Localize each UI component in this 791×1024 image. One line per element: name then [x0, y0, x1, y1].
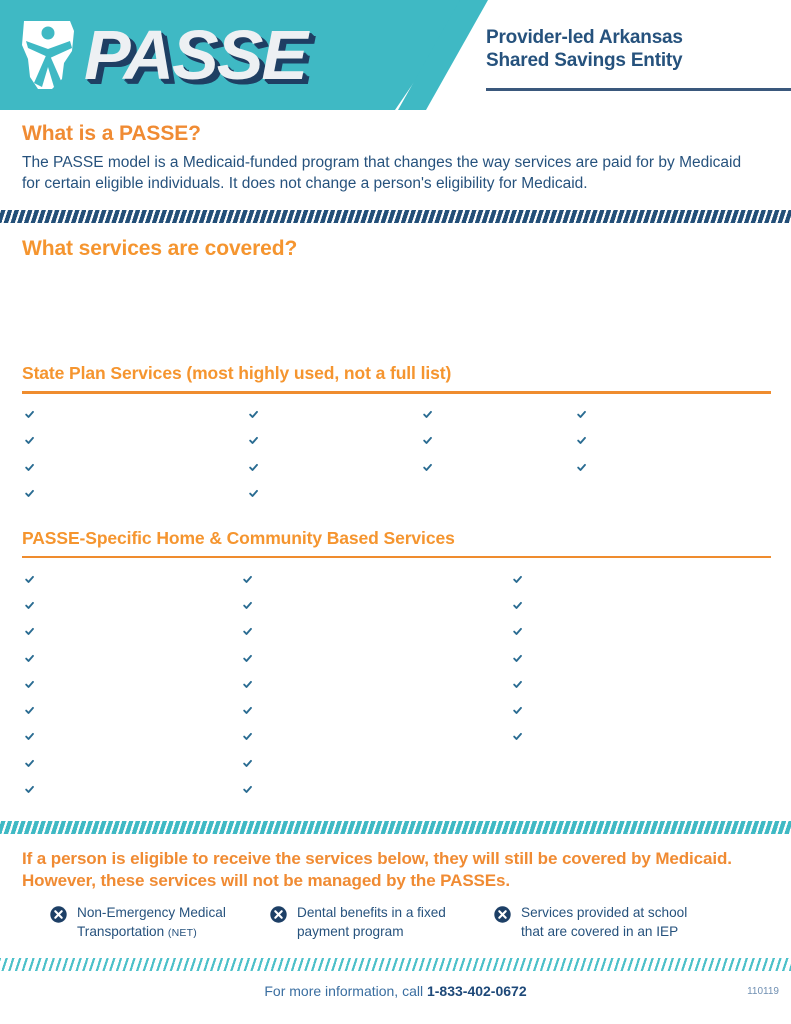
- service-item-label: Supported Employment: [46, 598, 188, 613]
- check-circle-icon: [510, 624, 525, 639]
- service-item: Personal Care: [22, 402, 213, 428]
- service-column-1: RespiteSupported EmploymentSupportive Li…: [22, 566, 211, 803]
- service-item: Peer Support: [22, 697, 211, 723]
- service-item: Speech Therapy: [246, 402, 397, 428]
- service-item-label: Behavior Assistance: [46, 677, 168, 692]
- service-item: Supported Employment: [22, 592, 211, 618]
- services-section: What services are covered? The PASSE mus…: [0, 223, 791, 821]
- services-heading: What services are covered?: [22, 237, 769, 261]
- check-circle-icon: [240, 651, 255, 666]
- excluded-service-label: Dental benefits in a fixedpayment progra…: [297, 904, 446, 942]
- hcbs-service-list: RespiteSupported EmploymentSupportive Li…: [22, 566, 769, 811]
- excluded-service-item: Dental benefits in a fixedpayment progra…: [270, 904, 446, 942]
- tagline-line-1: Provider-led Arkansas: [486, 26, 786, 49]
- x-circle-icon: [494, 906, 511, 923]
- passe-logo: PASSE: [18, 14, 306, 96]
- service-item-label: Family Planning: [444, 460, 541, 475]
- service-item: Adaptive Equipment: [510, 566, 758, 592]
- service-item: Pharmacy: [246, 454, 397, 480]
- service-item: Outpatient Behavioral: [574, 428, 729, 454]
- service-column-3: Adaptive EquipmentEnvironmental Modifica…: [510, 566, 758, 750]
- service-item-label: Durable Medical Equipment: [46, 460, 213, 475]
- service-item: Supplemental Support: [240, 592, 474, 618]
- service-item-label: Adaptive Equipment: [534, 572, 656, 587]
- header-divider: [486, 88, 791, 91]
- x-circle-icon: [50, 906, 67, 923]
- check-circle-icon: [420, 460, 435, 475]
- check-circle-icon: [246, 407, 261, 422]
- check-circle-icon: [22, 572, 37, 587]
- service-item-label: Peer Support: [46, 703, 126, 718]
- service-item-label: Environmental Modifications: [534, 598, 704, 613]
- service-item-label: Recovery Support Partners: [264, 782, 428, 797]
- passe-wordmark: PASSE: [84, 17, 306, 93]
- x-circle-icon: [270, 906, 287, 923]
- service-item-label: Outpatient Behavioral: [598, 433, 729, 448]
- check-circle-icon: [22, 598, 37, 613]
- hatch-band-bottom: [0, 958, 791, 971]
- service-item: Hospital Services: [246, 480, 397, 506]
- service-item-label: Pharmacy: [270, 460, 331, 475]
- document-id: 110119: [747, 986, 779, 997]
- check-circle-icon: [420, 407, 435, 422]
- hcbs-subheading: PASSE-Specific Home & Community Based Se…: [22, 528, 769, 549]
- service-column-2: Community Transition ServicesSupplementa…: [240, 566, 474, 803]
- service-column-4: Inpatient PsychiatricOutpatient Behavior…: [574, 402, 729, 481]
- check-circle-icon: [22, 460, 37, 475]
- service-item-label: Pharmaceutical Counseling: [46, 756, 211, 771]
- excluded-suffix: (NET): [168, 927, 197, 939]
- footer-contact: For more information, call 1-833-402-067…: [0, 983, 791, 999]
- service-item-label: Supplemental Support: [264, 598, 399, 613]
- service-item: Recovery Support Partners: [240, 776, 474, 802]
- service-item: Physical Therapy: [420, 402, 548, 428]
- arkansas-state-person-icon: [18, 17, 82, 93]
- check-circle-icon: [510, 677, 525, 692]
- service-item: Supportive Life Skills Development: [240, 697, 474, 723]
- check-circle-icon: [574, 460, 589, 475]
- excluded-line-1: Dental benefits in a fixed: [297, 905, 446, 920]
- service-item: Occupational Therapy: [22, 480, 213, 506]
- service-item: Supportive Living: [22, 619, 211, 645]
- check-circle-icon: [510, 598, 525, 613]
- service-item-label: Supportive Housing: [46, 651, 165, 666]
- footer: For more information, call 1-833-402-067…: [0, 971, 791, 1015]
- check-circle-icon: [240, 756, 255, 771]
- service-item-label: Mobile Crisis Intervention: [264, 729, 417, 744]
- service-item: Residential Community Reintegration: [510, 724, 758, 750]
- service-item-label: Nursing Services: [444, 433, 547, 448]
- service-item: Environmental Modifications: [510, 592, 758, 618]
- service-item: Primary Care Physician: [22, 428, 213, 454]
- service-item: Health Counseling: [574, 454, 729, 480]
- service-item: Mobile Crisis Intervention: [240, 724, 474, 750]
- check-circle-icon: [240, 624, 255, 639]
- header: PASSE Provider-led Arkansas Shared Savin…: [0, 0, 791, 110]
- footer-phone-number[interactable]: 1-833-402-0672: [427, 983, 527, 999]
- check-circle-icon: [22, 486, 37, 501]
- service-item: Supportive Housing: [22, 645, 211, 671]
- service-item-label: Therapeutic Host Home: [264, 756, 408, 771]
- check-circle-icon: [246, 486, 261, 501]
- excluded-line-1: Non-Emergency Medical: [77, 905, 226, 920]
- check-circle-icon: [22, 624, 37, 639]
- service-item-label: Occupational Therapy: [46, 486, 179, 501]
- check-circle-icon: [22, 729, 37, 744]
- not-managed-warning: If a person is eligible to receive the s…: [22, 848, 767, 892]
- check-circle-icon: [240, 782, 255, 797]
- check-circle-icon: [240, 703, 255, 718]
- check-circle-icon: [240, 677, 255, 692]
- check-circle-icon: [246, 460, 261, 475]
- service-item: Family Support Partners: [22, 724, 211, 750]
- service-item: Respite: [22, 566, 211, 592]
- service-item-label: Adult Rehabilitation Day Treatment: [264, 651, 474, 666]
- check-circle-icon: [22, 433, 37, 448]
- service-item: Partial Hospitalization: [510, 671, 758, 697]
- hatch-band-middle: [0, 821, 791, 834]
- service-item-label: Residential Community Reintegration: [534, 729, 758, 744]
- not-managed-section: If a person is eligible to receive the s…: [0, 834, 791, 958]
- service-item-label: Substance Abuse Detoxification: [534, 703, 725, 718]
- service-item: Consultation: [510, 619, 758, 645]
- check-circle-icon: [22, 703, 37, 718]
- service-item-label: Inpatient Psychiatric: [598, 407, 720, 422]
- service-item: Pharmaceutical Counseling: [22, 750, 211, 776]
- state-plan-service-list: Personal CarePrimary Care PhysicianDurab…: [22, 402, 769, 512]
- check-circle-icon: [574, 433, 589, 448]
- check-circle-icon: [420, 433, 435, 448]
- state-plan-rule: [22, 391, 771, 394]
- hcbs-rule: [22, 556, 771, 559]
- check-circle-icon: [246, 433, 261, 448]
- check-circle-icon: [22, 756, 37, 771]
- excluded-service-label: Non-Emergency MedicalTransportation (NET…: [77, 904, 226, 942]
- service-item-label: Community Transition Services: [264, 572, 451, 587]
- what-is-passe-body: The PASSE model is a Medicaid-funded pro…: [22, 153, 757, 194]
- service-item: Family Planning: [420, 454, 548, 480]
- excluded-service-item: Services provided at schoolthat are cove…: [494, 904, 687, 942]
- excluded-service-item: Non-Emergency MedicalTransportation (NET…: [50, 904, 226, 942]
- service-item-label: Consultation: [534, 624, 610, 639]
- not-managed-items: Non-Emergency MedicalTransportation (NET…: [22, 904, 769, 952]
- check-circle-icon: [510, 703, 525, 718]
- service-item: Adult Rehabilitation Day Treatment: [240, 645, 474, 671]
- service-item-label: Supportive Living: [46, 624, 150, 639]
- what-is-passe-heading: What is a PASSE?: [22, 122, 769, 146]
- service-item: Community Transition Services: [240, 566, 474, 592]
- service-item-label: Speech Therapy: [270, 407, 370, 422]
- state-plan-subheading: State Plan Services (most highly used, n…: [22, 363, 769, 384]
- service-item: Physician Specialists: [246, 428, 397, 454]
- check-circle-icon: [240, 598, 255, 613]
- check-circle-icon: [22, 677, 37, 692]
- check-circle-icon: [510, 651, 525, 666]
- hatch-band-top: [0, 210, 791, 223]
- service-item-label: Primary Care Physician: [46, 433, 188, 448]
- service-item: Substance Abuse Detoxification: [510, 697, 758, 723]
- service-item-label: Specialized Medical Supplies: [264, 624, 440, 639]
- service-item-label: Therapeutic Communities: [534, 651, 689, 666]
- tagline-line-2: Shared Savings Entity: [486, 49, 786, 72]
- check-circle-icon: [240, 729, 255, 744]
- footer-call-prefix: For more information, call: [264, 983, 427, 999]
- service-item: Behavior Assistance: [22, 671, 211, 697]
- service-item-label: Personal Care: [46, 407, 133, 422]
- check-circle-icon: [574, 407, 589, 422]
- check-circle-icon: [22, 407, 37, 422]
- excluded-line-2: payment program: [297, 924, 404, 939]
- service-column-1: Personal CarePrimary Care PhysicianDurab…: [22, 402, 213, 507]
- excluded-line-2: Transportation: [77, 924, 168, 939]
- header-tagline: Provider-led Arkansas Shared Savings Ent…: [486, 26, 786, 72]
- service-column-3: Physical TherapyNursing ServicesFamily P…: [420, 402, 548, 481]
- service-item-label: Family Support Partners: [46, 729, 193, 744]
- check-circle-icon: [510, 572, 525, 587]
- service-item: Nursing Services: [420, 428, 548, 454]
- check-circle-icon: [22, 782, 37, 797]
- service-item-label: Respite: [46, 572, 92, 587]
- service-item: Therapeutic Communities: [510, 645, 758, 671]
- service-column-2: Speech TherapyPhysician SpecialistsPharm…: [246, 402, 397, 507]
- service-item-label: Hospital Services: [270, 486, 375, 501]
- check-circle-icon: [22, 651, 37, 666]
- service-item-label: Supportive Life Skills Development: [264, 703, 474, 718]
- services-lead: The PASSE must make sure that a member h…: [22, 269, 767, 347]
- service-item: Therapeutic Host Home: [240, 750, 474, 776]
- service-item: Durable Medical Equipment: [22, 454, 213, 480]
- passe-infographic-page: PASSE Provider-led Arkansas Shared Savin…: [0, 0, 791, 1024]
- service-item: Inpatient Psychiatric: [574, 402, 729, 428]
- service-item-label: Child & Youth Support Services: [264, 677, 453, 692]
- service-item-label: Physical Therapy: [444, 407, 548, 422]
- service-item-label: Health Counseling: [598, 460, 709, 475]
- excluded-line-1: Services provided at school: [521, 905, 687, 920]
- what-is-passe-section: What is a PASSE? The PASSE model is a Me…: [0, 110, 791, 210]
- service-item-label: Partial Hospitalization: [534, 677, 665, 692]
- service-item: Child & Youth Support Services: [240, 671, 474, 697]
- service-item-label: Crisis Intervention: [46, 782, 155, 797]
- check-circle-icon: [510, 729, 525, 744]
- excluded-line-2: that are covered in an IEP: [521, 924, 678, 939]
- check-circle-icon: [240, 572, 255, 587]
- service-item: Specialized Medical Supplies: [240, 619, 474, 645]
- service-item: Crisis Intervention: [22, 776, 211, 802]
- service-item-label: Physician Specialists: [270, 433, 397, 448]
- excluded-service-label: Services provided at schoolthat are cove…: [521, 904, 687, 942]
